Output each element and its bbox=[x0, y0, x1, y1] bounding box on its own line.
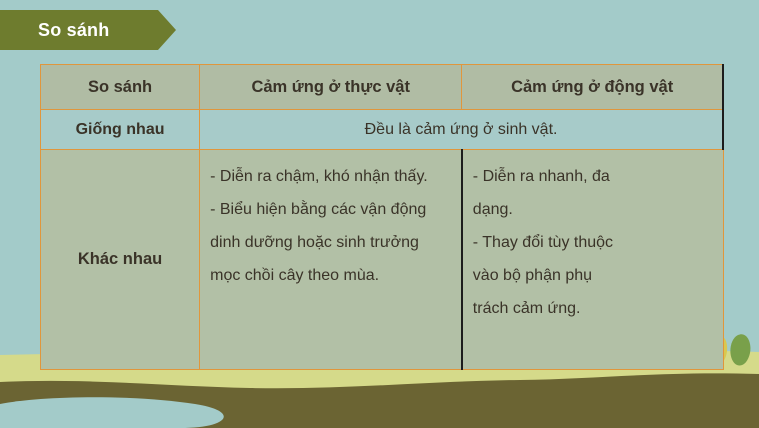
plant-line: dinh dưỡng hoặc sinh trưởng bbox=[210, 226, 453, 259]
animal-line: - Thay đổi tùy thuộc bbox=[473, 226, 715, 259]
row-label-differences: Khác nhau bbox=[41, 150, 200, 370]
animal-line: - Diễn ra nhanh, đa bbox=[473, 160, 715, 193]
differences-plants-cell: - Diễn ra chậm, khó nhận thấy. - Biểu hi… bbox=[200, 150, 462, 370]
pond-shape bbox=[0, 397, 224, 428]
page-title: So sánh bbox=[38, 10, 109, 50]
plant-line: - Biểu hiện bằng các vận động bbox=[210, 193, 453, 226]
column-header-criteria: So sánh bbox=[41, 65, 200, 110]
comparison-table: So sánh Cảm ứng ở thực vật Cảm ứng ở độn… bbox=[40, 64, 724, 370]
differences-animals-cell: - Diễn ra nhanh, đa dạng. - Thay đổi tùy… bbox=[462, 150, 723, 370]
plant-line: mọc chồi cây theo mùa. bbox=[210, 259, 453, 292]
row-label-similarities: Giống nhau bbox=[41, 110, 200, 150]
table-row-differences: Khác nhau - Diễn ra chậm, khó nhận thấy.… bbox=[41, 150, 724, 370]
table-row-similarities: Giống nhau Đều là cảm ứng ở sinh vật. bbox=[41, 110, 724, 150]
animal-line: trách cảm ứng. bbox=[473, 292, 715, 325]
table-header-row: So sánh Cảm ứng ở thực vật Cảm ứng ở độn… bbox=[41, 65, 724, 110]
section-banner: So sánh bbox=[0, 10, 176, 50]
hill-band bbox=[0, 373, 759, 428]
animal-line: dạng. bbox=[473, 193, 715, 226]
comparison-table-wrapper: So sánh Cảm ứng ở thực vật Cảm ứng ở độn… bbox=[40, 64, 724, 370]
plant-line: - Diễn ra chậm, khó nhận thấy. bbox=[210, 160, 453, 193]
column-header-animals: Cảm ứng ở động vật bbox=[462, 65, 723, 110]
animal-line: vào bộ phận phụ bbox=[473, 259, 715, 292]
bush-green-icon bbox=[730, 334, 750, 365]
column-header-plants: Cảm ứng ở thực vật bbox=[200, 65, 462, 110]
similarities-text: Đều là cảm ứng ở sinh vật. bbox=[200, 110, 723, 150]
